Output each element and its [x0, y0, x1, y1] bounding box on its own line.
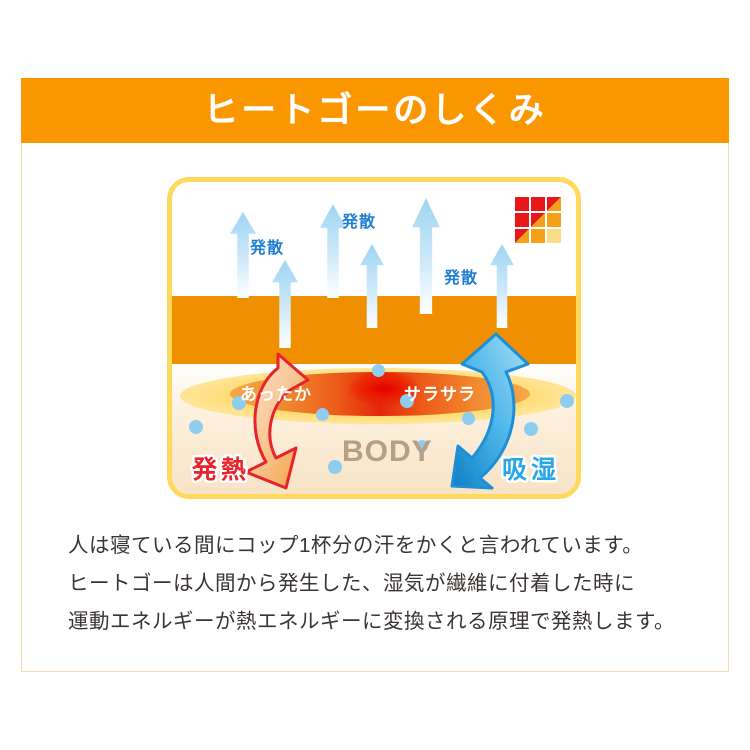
description-line-1: 人は寝ている間にコップ1杯分の汗をかくと言われています。 — [68, 527, 688, 565]
logo-cell — [531, 229, 545, 243]
logo-cell — [515, 213, 529, 227]
warm-label: あったか — [240, 380, 312, 405]
page-title: ヒートゴーのしくみ — [203, 93, 546, 128]
evaporation-label-2: 発散 — [342, 208, 376, 232]
description-line-2: ヒートゴーは人間から発生した、湿気が繊維に付着した時に — [68, 565, 688, 603]
moisture-droplet — [372, 364, 385, 377]
logo-cell — [531, 197, 545, 211]
moisture-droplet — [189, 420, 203, 434]
logo-cell — [515, 197, 529, 211]
logo-cell — [547, 213, 561, 227]
moisture-droplet — [560, 394, 574, 408]
heat-emission-arrow-icon — [240, 350, 312, 492]
evaporation-label-1: 発散 — [250, 234, 284, 258]
moisture-absorption-label: 吸湿 — [502, 450, 560, 486]
evaporation-label-3: 発散 — [444, 264, 478, 288]
page-root: ヒートゴーのしくみ 発散 発散 発散 — [0, 0, 750, 750]
brand-logo-icon — [515, 197, 561, 243]
evaporation-arrow-icon — [272, 260, 298, 348]
evaporation-arrow-icon — [360, 244, 384, 328]
evaporation-arrow-icon — [490, 244, 514, 328]
logo-cell — [531, 213, 545, 227]
logo-cell — [547, 197, 561, 211]
dry-label: サラサラ — [404, 380, 476, 405]
logo-cell — [547, 229, 561, 243]
logo-cell — [515, 229, 529, 243]
heat-generation-label: 発熱 — [192, 450, 250, 486]
moisture-droplet — [316, 408, 329, 421]
mechanism-diagram: 発散 発散 発散 — [167, 177, 581, 499]
section-header: ヒートゴーのしくみ — [21, 78, 729, 143]
evaporation-arrow-icon — [412, 198, 440, 314]
description-text: 人は寝ている間にコップ1杯分の汗をかくと言われています。 ヒートゴーは人間から発… — [68, 527, 688, 641]
diagram-canvas: 発散 発散 発散 — [172, 182, 576, 494]
moisture-droplet — [328, 460, 342, 474]
body-word-label: BODY — [342, 435, 433, 469]
description-line-3: 運動エネルギーが熱エネルギーに変換される原理で発熱します。 — [68, 603, 688, 641]
